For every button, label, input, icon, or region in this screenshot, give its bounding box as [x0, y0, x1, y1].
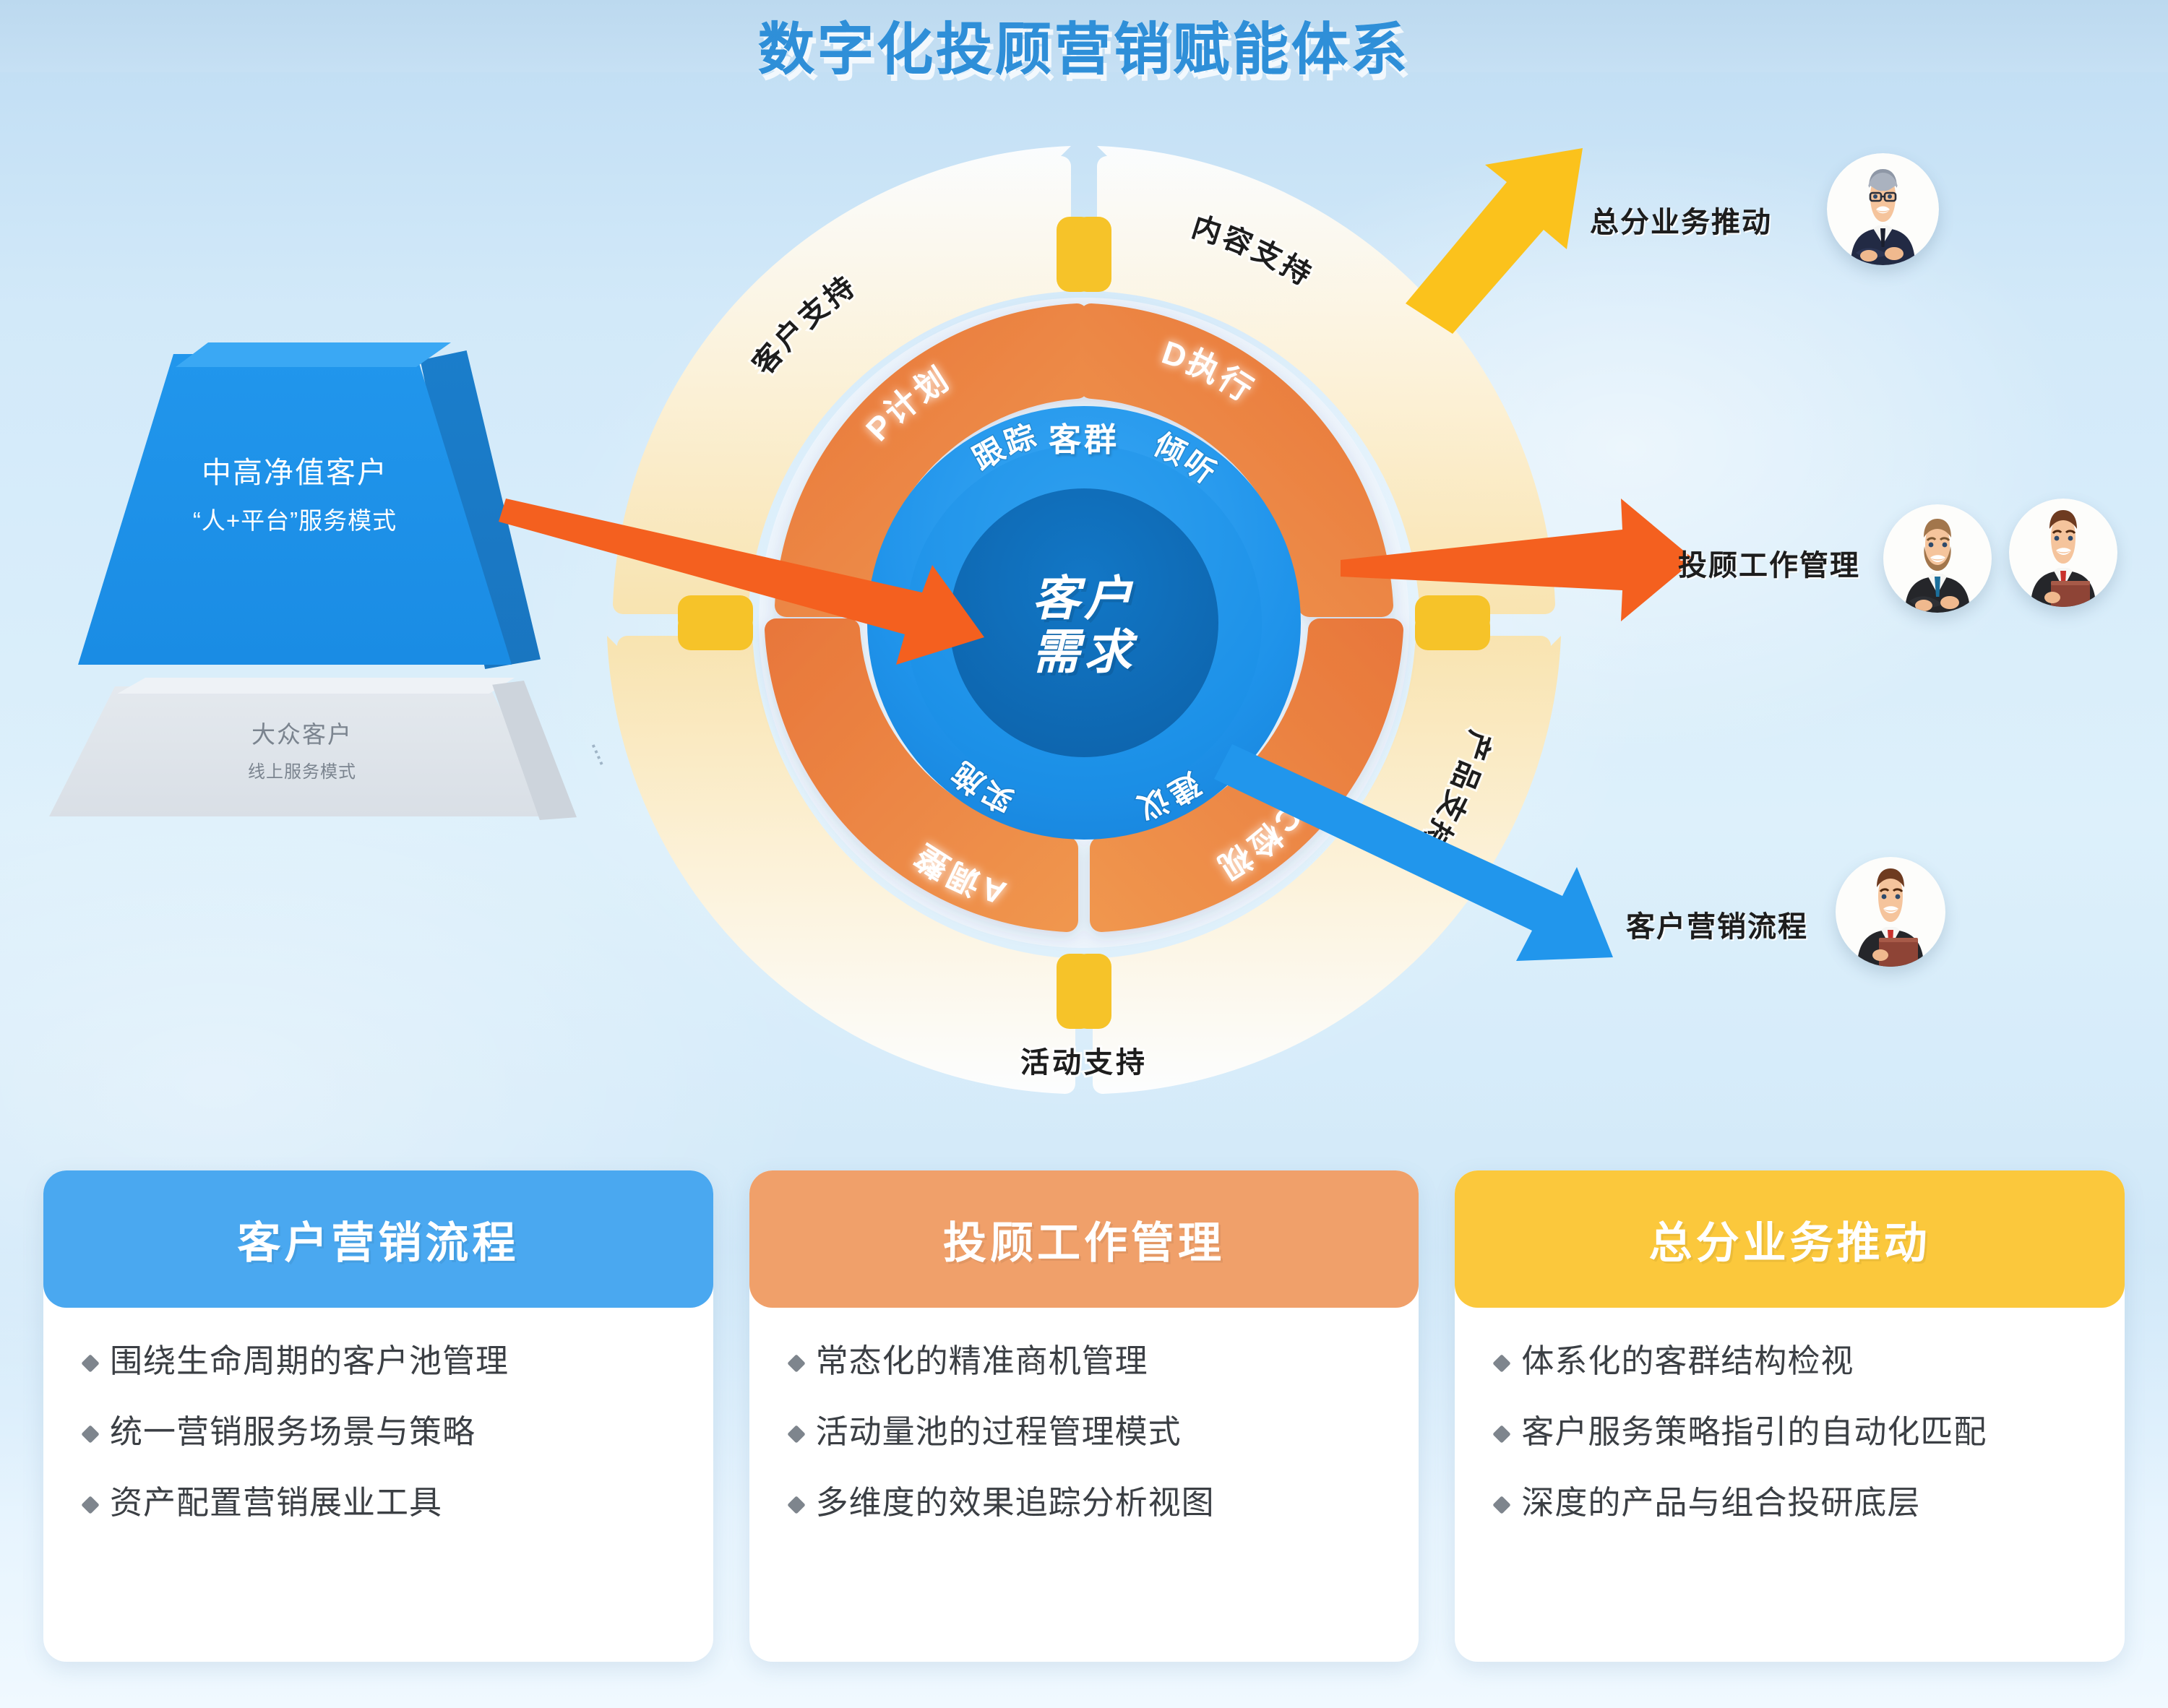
list-item: 深度的产品与组合投研底层 — [1494, 1484, 2086, 1522]
advisor-bearded-icon — [1883, 504, 1992, 613]
senior-advisor-icon — [1827, 153, 1939, 265]
feature-card-1: 投顾工作管理 常态化的精准商机管理 活动量池的过程管理模式 多维度的效果追踪分析… — [749, 1170, 1419, 1662]
pyramid-base-text: 大众客户 线上服务模式 — [49, 715, 555, 782]
diamond-bullet-icon — [1493, 1425, 1512, 1444]
pyramid-base-subtitle: 线上服务模式 — [49, 757, 555, 782]
list-item: 体系化的客群结构检视 — [1494, 1342, 2086, 1380]
feature-card-0: 客户营销流程 围绕生命周期的客户池管理 统一营销服务场景与策略 资产配置营销展业… — [43, 1170, 713, 1662]
feature-card-1-body: 常态化的精准商机管理 活动量池的过程管理模式 多维度的效果追踪分析视图 — [749, 1308, 1419, 1662]
feature-card-0-item-1: 统一营销服务场景与策略 — [110, 1413, 476, 1451]
feature-card-0-item-0: 围绕生命周期的客户池管理 — [110, 1342, 509, 1380]
list-item: 常态化的精准商机管理 — [788, 1342, 1380, 1380]
senior-advisor-avatar — [1827, 153, 1939, 265]
advisor-folder-icon — [2009, 499, 2117, 607]
core-disc — [950, 488, 1218, 757]
feature-card-0-title: 客户营销流程 — [237, 1208, 519, 1271]
feature-card-2-item-2: 深度的产品与组合投研底层 — [1521, 1484, 1920, 1522]
advisor-avatar-2 — [2009, 499, 2117, 607]
pdca-wheel-diagram: 客户支持 内容支持 产品支持 活动支持 P计划 D执行 C检视 A调整 — [600, 139, 1568, 1107]
diamond-bullet-icon — [81, 1354, 100, 1373]
feature-card-2-header: 总分业务推动 — [1455, 1170, 2125, 1308]
feature-card-0-header: 客户营销流程 — [43, 1170, 713, 1308]
sales-advisor-icon — [1836, 857, 1945, 967]
feature-card-2: 总分业务推动 体系化的客群结构检视 客户服务策略指引的自动化匹配 深度的产品与组… — [1455, 1170, 2125, 1662]
feature-card-0-body: 围绕生命周期的客户池管理 统一营销服务场景与策略 资产配置营销展业工具 — [43, 1308, 713, 1662]
diamond-bullet-icon — [787, 1425, 806, 1444]
feature-card-2-title: 总分业务推动 — [1649, 1208, 1931, 1271]
sales-advisor-avatar — [1836, 857, 1945, 967]
diamond-bullet-icon — [1493, 1354, 1512, 1373]
feature-card-2-body: 体系化的客群结构检视 客户服务策略指引的自动化匹配 深度的产品与组合投研底层 — [1455, 1308, 2125, 1662]
page-title: 数字化投顾营销赋能体系 — [0, 4, 2168, 85]
callout-label-advisor-management: 投顾工作管理 — [1678, 542, 1860, 584]
feature-cards: 客户营销流程 围绕生命周期的客户池管理 统一营销服务场景与策略 资产配置营销展业… — [43, 1170, 2125, 1662]
feature-card-1-title: 投顾工作管理 — [943, 1208, 1225, 1271]
pyramid-base-top-face — [49, 678, 555, 694]
diamond-bullet-icon — [1493, 1496, 1512, 1514]
feature-card-2-item-0: 体系化的客群结构检视 — [1521, 1342, 1854, 1380]
feature-card-2-item-1: 客户服务策略指引的自动化匹配 — [1521, 1413, 1987, 1451]
outer-ring-label-bottom: 活动支持 — [1020, 1047, 1148, 1079]
list-item: 围绕生命周期的客户池管理 — [82, 1342, 674, 1380]
callout-label-customer-marketing: 客户营销流程 — [1626, 903, 1808, 945]
advisor-avatar-1 — [1883, 504, 1992, 613]
outer-label-3: 活动支持 — [1020, 1047, 1148, 1079]
feature-card-1-item-2: 多维度的效果追踪分析视图 — [816, 1484, 1215, 1522]
diamond-bullet-icon — [787, 1354, 806, 1373]
list-item: 活动量池的过程管理模式 — [788, 1413, 1380, 1451]
diamond-bullet-icon — [81, 1496, 100, 1514]
wheel-svg: 客户支持 内容支持 产品支持 活动支持 P计划 D执行 C检视 A调整 — [600, 139, 1568, 1107]
list-item: 多维度的效果追踪分析视图 — [788, 1484, 1380, 1522]
feature-card-1-header: 投顾工作管理 — [749, 1170, 1419, 1308]
list-item: 统一营销服务场景与策略 — [82, 1413, 674, 1451]
diamond-bullet-icon — [81, 1425, 100, 1444]
callout-label-total-business: 总分业务推动 — [1590, 199, 1772, 241]
feature-card-0-item-2: 资产配置营销展业工具 — [110, 1484, 442, 1522]
diamond-bullet-icon — [787, 1496, 806, 1514]
pyramid-base-title: 大众客户 — [49, 715, 555, 750]
feature-card-1-item-1: 活动量池的过程管理模式 — [816, 1413, 1182, 1451]
list-item: 客户服务策略指引的自动化匹配 — [1494, 1413, 2086, 1451]
customer-pyramid: 大众客户 线上服务模式 中高净值客户 “人+平台”服务模式 — [43, 340, 593, 860]
feature-card-1-item-0: 常态化的精准商机管理 — [816, 1342, 1148, 1380]
list-item: 资产配置营销展业工具 — [82, 1484, 674, 1522]
